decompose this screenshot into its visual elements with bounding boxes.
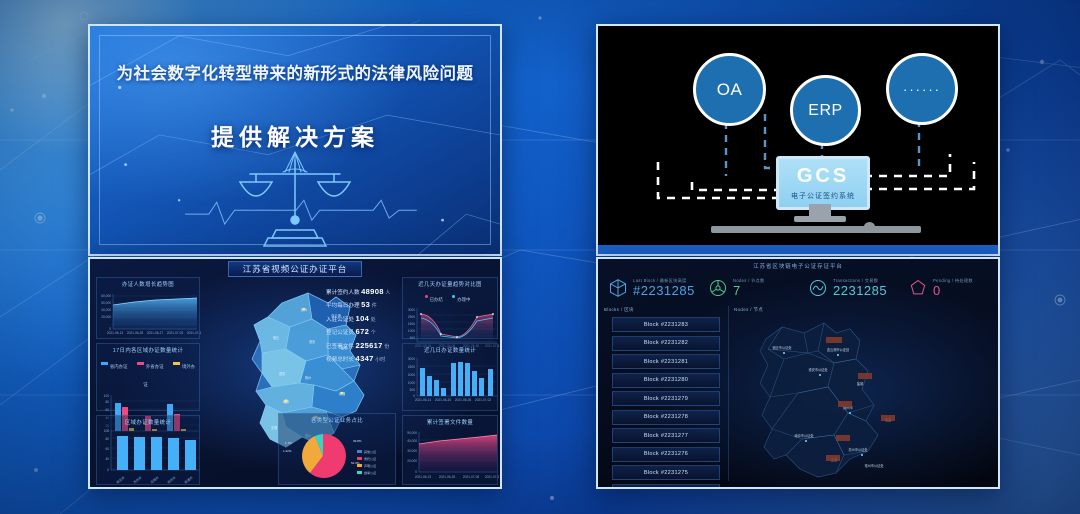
chart-title-area-top-left: 办证人数增长趋势图 — [97, 278, 199, 288]
stat-row: 视频总时长 4347 小时 — [326, 354, 410, 363]
list-item[interactable]: Block #2231282 — [612, 336, 720, 351]
block-list[interactable]: Block #2231283 Block #2231282 Block #223… — [612, 317, 720, 489]
svg-text:其他公证: 其他公证 — [364, 449, 376, 454]
monitor-base — [794, 216, 846, 222]
blockchain-map-visual: 宿迁市公证处连云港市公证处 淮安市公证处盐城 扬州市南通 南京市公证处苏州市公证… — [738, 309, 988, 487]
dashboard-title: 江苏省视频公证办证平台 — [90, 263, 500, 275]
svg-text:2021-06-13: 2021-06-13 — [415, 475, 432, 479]
section-divider — [728, 306, 729, 481]
svg-text:扬州: 扬州 — [305, 375, 311, 380]
stat-row: 入驻公证处 104 处 — [326, 314, 410, 323]
chart-card-pie-types: 各类型公证业务占比 1.7%1.32% 39.8%52.0% 其他公证 委托公证… — [278, 413, 396, 485]
gcs-subtitle: 电子公证签约系统 — [791, 191, 855, 201]
list-item[interactable]: Block #2231279 — [612, 391, 720, 406]
svg-text:声明公证: 声明公证 — [364, 463, 376, 468]
svg-text:2021-06-14: 2021-06-14 — [415, 398, 432, 402]
chart-legend-line-dip: 已办结 办理中 — [403, 288, 497, 306]
title-line-2: 提供解决方案 — [90, 118, 500, 152]
stat-card-last-block[interactable]: Last Block / 最新区块高度 #2231285 — [598, 272, 698, 304]
stat-row: 累计签约人数 48908 人 — [326, 287, 410, 296]
svg-text:40: 40 — [105, 457, 109, 461]
svg-text:60: 60 — [105, 408, 109, 412]
svg-text:2021-06-27: 2021-06-27 — [147, 331, 164, 335]
chart-title-line-dip: 近几天办证量趋势对比图 — [403, 278, 497, 288]
svg-text:苏州市公证处: 苏州市公证处 — [848, 447, 868, 452]
svg-text:50,000: 50,000 — [407, 431, 417, 435]
svg-text:常州市: 常州市 — [166, 474, 177, 484]
chart-pie-types: 1.7%1.32% 39.8%52.0% 其他公证 委托公证 声明公证 继承公证 — [279, 424, 397, 486]
list-item[interactable]: Block #2231281 — [612, 354, 720, 369]
svg-text:1500: 1500 — [408, 322, 415, 326]
blockchain-explorer-panel: 宿迁市公证处连云港市公证处 淮安市公证处盐城 扬州市南通 南京市公证处苏州市公证… — [596, 257, 1000, 489]
chart-title-bars-right: 近几日办证数量统计 — [403, 344, 497, 354]
svg-text:2021-07-15: 2021-07-15 — [187, 331, 201, 335]
svg-text:无锡: 无锡 — [271, 425, 277, 430]
svg-text:泗洪: 泗洪 — [279, 371, 286, 376]
svg-text:盐城: 盐城 — [857, 381, 864, 386]
list-item[interactable]: Block #2231277 — [612, 428, 720, 443]
gcs-monitor-screen: GCS 电子公证签约系统 — [776, 156, 870, 210]
pending-icon — [908, 278, 928, 298]
svg-text:0: 0 — [415, 470, 417, 474]
chart-card-bars-blue: 区域办证数量统计 10080 60400 南京市 苏州市 无锡市 — [96, 415, 200, 485]
chart-bars-blue: 10080 60400 南京市 苏州市 无锡市 常州市 南通市 — [97, 426, 201, 484]
chart-area-top-left: 60,00050,000 40,00020,000 0 2021-06-1320… — [97, 288, 201, 338]
stat-value-pending: 0 — [933, 284, 973, 298]
svg-text:2021-07-05: 2021-07-05 — [463, 475, 480, 479]
list-item[interactable]: Block #2231275 — [612, 465, 720, 480]
stat-row: 平均每日办理 53 件 — [326, 300, 410, 309]
blockchain-title: 江苏省区块链电子公证存证平台 — [598, 262, 998, 270]
stat-row: 已签署文件 225617 份 — [326, 341, 410, 350]
svg-text:2021-07-02: 2021-07-02 — [475, 398, 492, 402]
svg-text:2021-07-03: 2021-07-03 — [167, 331, 184, 335]
chart-title-bars-blue: 区域办证数量统计 — [97, 416, 199, 426]
svg-text:淮安: 淮安 — [309, 339, 315, 344]
chart-legend-bars-grouped: 省内办证 外省办证 境外办证 — [97, 355, 199, 391]
chart-card-area-top-left: 办证人数增长趋势图 60,00050,000 40,00020,000 0 — [96, 277, 200, 339]
svg-text:100: 100 — [104, 429, 110, 433]
svg-text:宿迁市公证处: 宿迁市公证处 — [772, 345, 792, 350]
slide-canvas: 为社会数字化转型带来的新形式的法律风险问题 提供解决方案 — [0, 0, 1080, 514]
svg-text:20,000: 20,000 — [101, 315, 111, 319]
svg-text:1000: 1000 — [408, 329, 415, 333]
svg-text:80: 80 — [105, 400, 109, 404]
svg-text:宿迁: 宿迁 — [273, 335, 280, 340]
mouse-icon — [864, 222, 875, 231]
svg-text:60: 60 — [105, 447, 109, 451]
chart-bars-right: 300025002000 10005000 2021-06-142021-06-… — [403, 354, 499, 406]
node-label-erp: ERP — [808, 102, 842, 120]
svg-text:1000: 1000 — [408, 381, 415, 385]
svg-text:2500: 2500 — [408, 365, 415, 369]
svg-text:南通市: 南通市 — [183, 474, 194, 484]
svg-text:500: 500 — [410, 388, 416, 392]
blocks-section-header: Blocks / 区块 — [604, 307, 634, 313]
diagram-node-others[interactable]: ······ — [886, 53, 958, 125]
stat-value-last-block: #2231285 — [633, 284, 695, 298]
dashboard-stats-list: 累计签约人数 48908 人 平均每日办理 53 件 入驻公证处 104 处 登… — [326, 287, 410, 367]
svg-text:2000: 2000 — [408, 373, 415, 377]
architecture-diagram-panel: OA ERP ······ GCS 电子公证签约系统 — [596, 24, 1000, 256]
svg-text:80: 80 — [105, 437, 109, 441]
gcs-title: GCS — [797, 166, 849, 186]
chart-card-line-dip: 近几天办证量趋势对比图 已办结 办理中 300025001500 1000500 — [402, 277, 498, 339]
svg-text:60,000: 60,000 — [101, 294, 111, 298]
chart-title-area-bottom-right: 累计签署文件数量 — [403, 416, 497, 426]
svg-text:2500: 2500 — [408, 315, 415, 319]
svg-text:继承公证: 继承公证 — [364, 470, 376, 475]
svg-text:500: 500 — [410, 336, 416, 340]
chart-title-bars-grouped: 17日内各区域办证数量统计 — [97, 344, 199, 354]
svg-text:3000: 3000 — [408, 308, 415, 312]
nodes-section-header: Nodes / 节点 — [734, 307, 763, 313]
chart-card-bars-grouped: 17日内各区域办证数量统计 省内办证 外省办证 境外办证 1008060 402… — [96, 343, 200, 411]
stat-card-transactions[interactable]: Transactions / 交易数 2231285 — [798, 272, 898, 304]
svg-text:2021-06-26: 2021-06-26 — [455, 398, 472, 402]
svg-text:1.32%: 1.32% — [283, 449, 292, 453]
chart-card-bars-right: 近几日办证数量统计 300025002000 10005000 — [402, 343, 498, 411]
diagram-bottom-strip — [598, 245, 998, 254]
cube-icon — [608, 278, 628, 298]
svg-text:连云港市公证处: 连云港市公证处 — [827, 347, 850, 352]
list-item[interactable]: Block #2231283 — [612, 317, 720, 332]
svg-text:无锡市: 无锡市 — [149, 474, 160, 484]
title-panel: 为社会数字化转型带来的新形式的法律风险问题 提供解决方案 — [88, 24, 502, 256]
svg-text:淮安市公证处: 淮安市公证处 — [808, 367, 828, 372]
svg-text:40,000: 40,000 — [101, 308, 111, 312]
list-item[interactable]: Block #2231274 — [612, 484, 720, 490]
svg-text:100: 100 — [104, 394, 110, 398]
keyboard-icon — [711, 226, 921, 233]
svg-text:3000: 3000 — [408, 357, 415, 361]
scales-of-justice-icon — [230, 148, 360, 248]
svg-text:2021-06-13: 2021-06-13 — [107, 331, 124, 335]
svg-text:委托公证: 委托公证 — [364, 456, 376, 461]
stat-card-pending[interactable]: Pending / 待处理数 0 — [898, 272, 998, 304]
svg-text:20,000: 20,000 — [407, 459, 417, 463]
chart-area-bottom-right: 50,00040,000 30,00020,0000 2021-06-13202… — [403, 426, 499, 484]
svg-text:40,000: 40,000 — [407, 439, 417, 443]
svg-text:0: 0 — [107, 468, 109, 472]
chart-title-pie-types: 各类型公证业务占比 — [279, 414, 395, 424]
stat-value-nodes: 7 — [733, 284, 764, 298]
list-item[interactable]: Block #2231280 — [612, 373, 720, 388]
stat-card-nodes[interactable]: Nodes / 节点数 7 — [698, 272, 798, 304]
list-item[interactable]: Block #2231278 — [612, 410, 720, 425]
svg-text:南京市公证处: 南京市公证处 — [794, 433, 814, 438]
node-label-others: ······ — [903, 82, 941, 97]
svg-text:2021-07-15: 2021-07-15 — [485, 475, 499, 479]
stat-row: 登记公证员 672 个 — [326, 327, 410, 336]
svg-text:苏州市: 苏州市 — [132, 474, 143, 484]
svg-text:1.7%: 1.7% — [285, 441, 292, 445]
nodes-icon — [708, 278, 728, 298]
node-label-oa: OA — [717, 80, 743, 100]
svg-text:39.8%: 39.8% — [353, 439, 362, 443]
blockchain-stat-cards: Last Block / 最新区块高度 #2231285 Nodes / 节点数… — [598, 272, 998, 304]
list-item[interactable]: Block #2231276 — [612, 447, 720, 462]
diagram-node-erp[interactable]: ERP — [790, 75, 861, 146]
svg-text:常州市公证处: 常州市公证处 — [864, 463, 884, 468]
stat-value-transactions: 2231285 — [833, 284, 887, 298]
diagram-canvas: OA ERP ······ GCS 电子公证签约系统 — [598, 26, 998, 254]
notary-dashboard-panel: 徐州连云港 宿迁淮安 盐城泗洪 扬州南通 南京苏州 无锡常州 江苏省视频公证办证… — [88, 257, 502, 489]
title-line-1: 为社会数字化转型带来的新形式的法律风险问题 — [90, 60, 500, 84]
svg-text:30,000: 30,000 — [407, 449, 417, 453]
monitor-neck — [809, 204, 831, 216]
diagram-node-oa[interactable]: OA — [693, 53, 766, 126]
svg-text:50,000: 50,000 — [101, 301, 111, 305]
transactions-icon — [808, 278, 828, 298]
svg-text:2021-06-20: 2021-06-20 — [435, 398, 452, 402]
svg-text:2021-06-25: 2021-06-25 — [127, 331, 144, 335]
svg-text:2021-06-25: 2021-06-25 — [439, 475, 456, 479]
chart-card-area-bottom-right: 累计签署文件数量 50,00040,000 30,00020,0000 2021 — [402, 415, 498, 485]
svg-text:南京市: 南京市 — [115, 474, 126, 484]
